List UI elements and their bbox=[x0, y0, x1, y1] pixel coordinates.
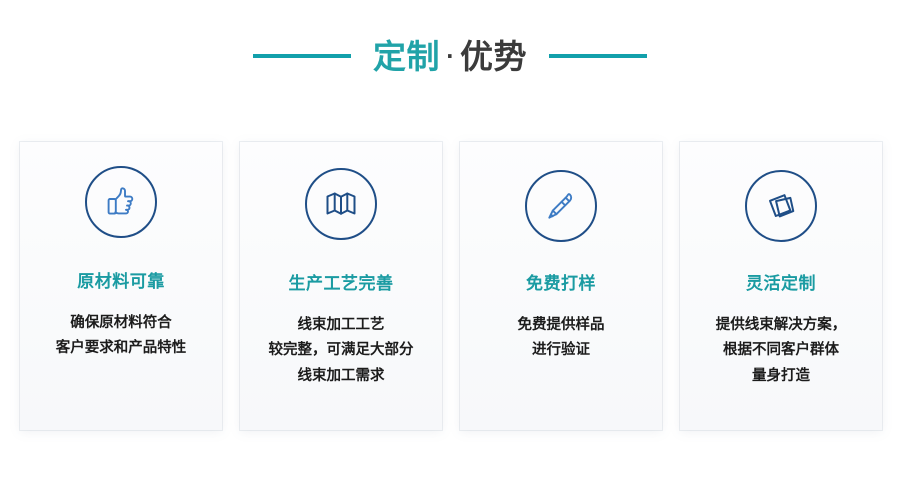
page-title-separator: · bbox=[440, 46, 460, 66]
feature-card-title: 灵活定制 bbox=[746, 276, 816, 293]
folded-map-icon bbox=[305, 168, 377, 240]
feature-card-title: 免费打样 bbox=[526, 276, 596, 293]
page-title-main: 优势 bbox=[460, 40, 527, 73]
header-rule-left bbox=[253, 54, 351, 58]
feature-card-title: 生产工艺完善 bbox=[289, 276, 394, 293]
feature-card-body: 免费提供样品 进行验证 bbox=[469, 313, 653, 364]
feature-card-list: 原材料可靠 确保原材料符合 客户要求和产品特性 生产工艺完善 bbox=[20, 142, 882, 432]
header-rule-right bbox=[549, 54, 647, 58]
feature-card[interactable]: 灵活定制 提供线束解决方案， 根据不同客户群体 量身打造 bbox=[680, 142, 882, 430]
feature-card-body-line: 根据不同客户群体 bbox=[689, 338, 873, 363]
feature-card-body: 线束加工工艺 较完整，可满足大部分 线束加工需求 bbox=[249, 313, 433, 389]
page-title: 定制 · 优势 bbox=[373, 40, 527, 73]
page-title-accent: 定制 bbox=[373, 40, 440, 73]
feature-card-body-line: 提供线束解决方案， bbox=[689, 313, 873, 338]
feature-card[interactable]: 生产工艺完善 线束加工工艺 较完整，可满足大部分 线束加工需求 bbox=[240, 142, 442, 430]
section-header: 定制 · 优势 bbox=[0, 28, 900, 84]
feature-card-body-line: 确保原材料符合 bbox=[29, 311, 213, 336]
feature-card[interactable]: 原材料可靠 确保原材料符合 客户要求和产品特性 bbox=[20, 142, 222, 430]
feature-card-body-line: 量身打造 bbox=[689, 364, 873, 389]
feature-card-body-line: 进行验证 bbox=[469, 338, 653, 363]
feature-card-body-line: 免费提供样品 bbox=[469, 313, 653, 338]
overlapping-cards-icon bbox=[745, 170, 817, 242]
feature-card-body-line: 线束加工工艺 bbox=[249, 313, 433, 338]
page-root: 定制 · 优势 原材料可靠 确保原 bbox=[0, 0, 900, 499]
feature-card-body-line: 较完整，可满足大部分 bbox=[249, 338, 433, 363]
feature-card-body: 确保原材料符合 客户要求和产品特性 bbox=[29, 311, 213, 362]
feature-card-body-line: 线束加工需求 bbox=[249, 364, 433, 389]
feature-card-title: 原材料可靠 bbox=[77, 274, 165, 291]
feature-card[interactable]: 免费打样 免费提供样品 进行验证 bbox=[460, 142, 662, 430]
feature-card-body: 提供线束解决方案， 根据不同客户群体 量身打造 bbox=[689, 313, 873, 389]
feature-card-body-line: 客户要求和产品特性 bbox=[29, 336, 213, 361]
thumbs-up-icon bbox=[85, 166, 157, 238]
pencil-icon bbox=[525, 170, 597, 242]
